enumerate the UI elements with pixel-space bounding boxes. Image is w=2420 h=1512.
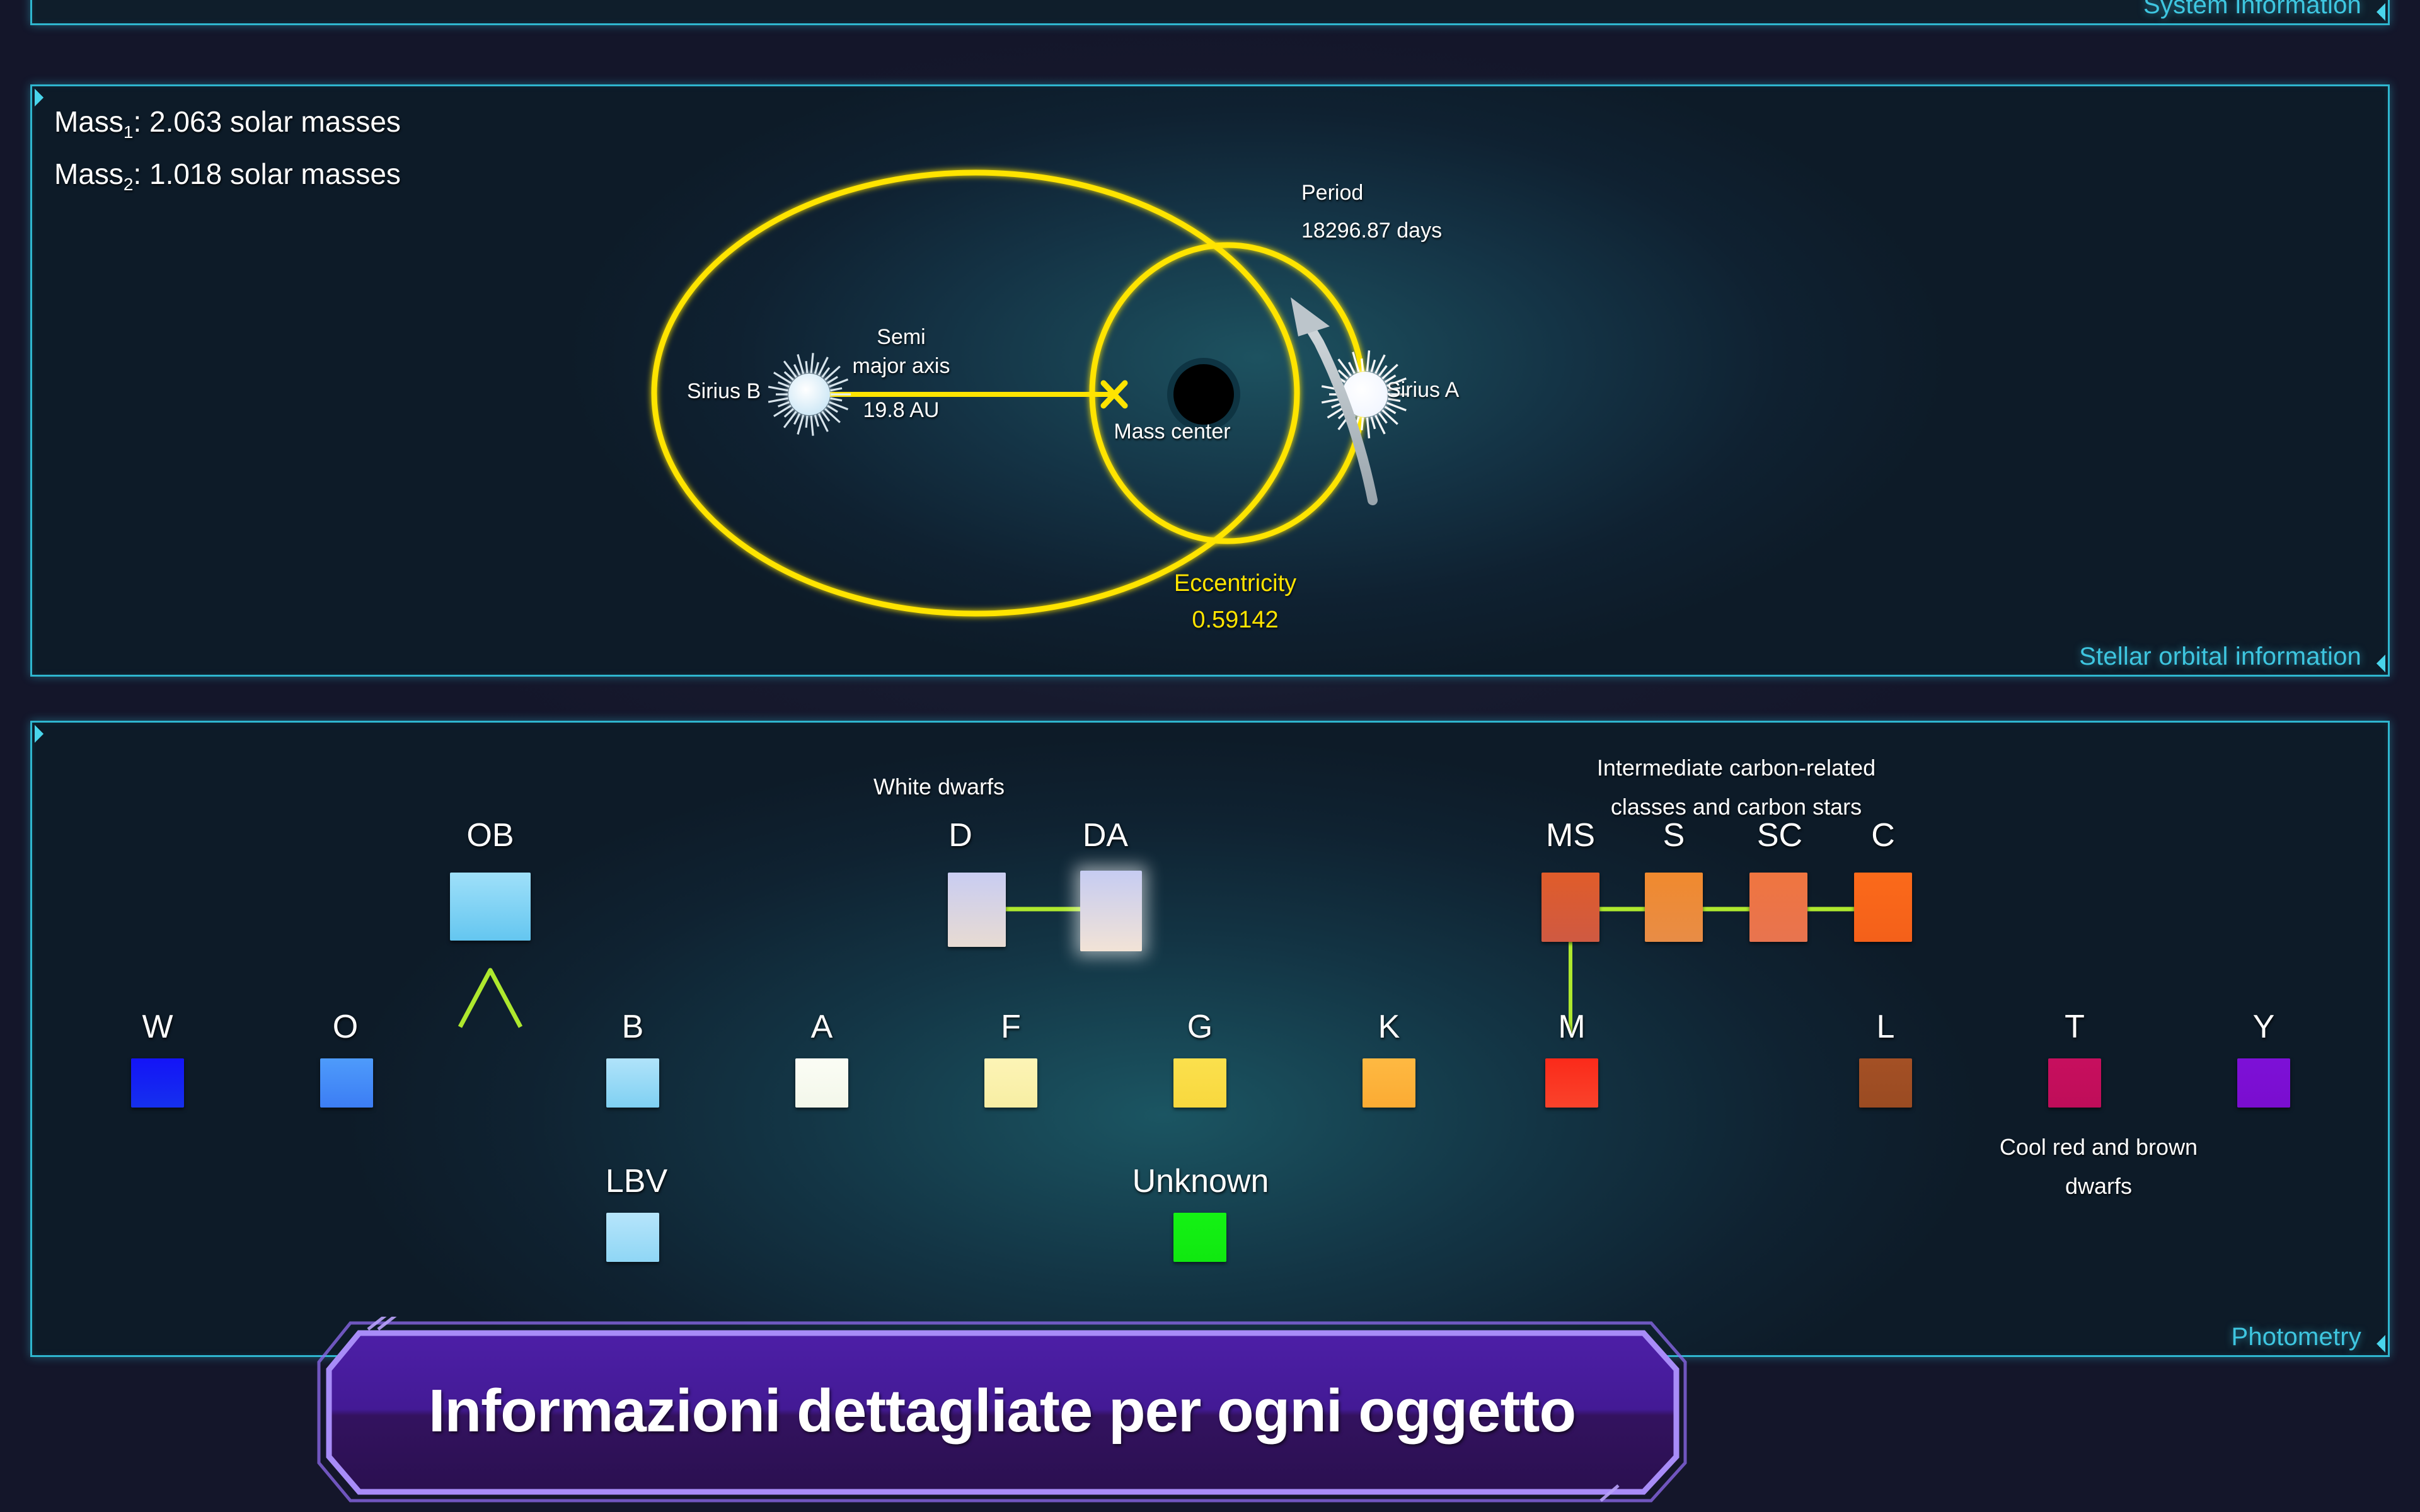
label-period: Period — [1301, 181, 1363, 205]
spectral-label-c: C — [1854, 816, 1912, 854]
spectral-box-w[interactable] — [131, 1058, 184, 1108]
spectral-label-lbv: LBV — [586, 1162, 687, 1200]
spectral-box-k[interactable] — [1363, 1058, 1415, 1108]
spectral-label-k: K — [1351, 1008, 1427, 1046]
spectral-box-y[interactable] — [2237, 1058, 2290, 1108]
label-period-value: 18296.87 days — [1301, 219, 1442, 243]
banner-title: Informazioni dettagliate per ogni oggett… — [315, 1317, 1689, 1506]
spectral-label-da: DA — [1061, 816, 1149, 854]
spectral-box-s[interactable] — [1645, 873, 1703, 942]
spectral-label-sc: SC — [1739, 816, 1820, 854]
label-mass-center: Mass center — [1046, 420, 1298, 444]
spectral-label-b: B — [595, 1008, 671, 1046]
spectral-box-sc[interactable] — [1749, 873, 1807, 942]
heading-cool-dwarfs-line1: Cool red and brown — [1903, 1134, 2294, 1160]
label-sirius-b: Sirius B — [687, 379, 761, 404]
spectral-box-b[interactable] — [606, 1058, 659, 1108]
spectral-box-unknown[interactable] — [1173, 1213, 1226, 1262]
label-semi-major-line1: Semi — [819, 325, 983, 350]
screen-root: System information Stellar orbital infor… — [0, 0, 2420, 1512]
spectral-box-l[interactable] — [1859, 1058, 1912, 1108]
spectral-box-t[interactable] — [2048, 1058, 2101, 1108]
spectral-box-d[interactable] — [948, 873, 1006, 947]
bottom-banner: Informazioni dettagliate per ogni oggett… — [315, 1317, 1689, 1506]
label-eccentricity-value: 0.59142 — [1109, 607, 1361, 634]
spectral-label-unknown: Unknown — [1097, 1162, 1305, 1200]
heading-cool-dwarfs-line2: dwarfs — [1903, 1173, 2294, 1200]
spectral-label-t: T — [2037, 1008, 2112, 1046]
panel-system-information: System information — [30, 0, 2390, 25]
spectral-label-w: W — [120, 1008, 195, 1046]
spectral-label-a: A — [784, 1008, 860, 1046]
heading-white-dwarfs: White dwarfs — [807, 774, 1071, 800]
spectral-box-g[interactable] — [1173, 1058, 1226, 1108]
panel-caption-photometry: Photometry — [2231, 1323, 2361, 1351]
spectral-box-lbv[interactable] — [606, 1213, 659, 1262]
spectral-label-m: M — [1534, 1008, 1610, 1046]
spectral-label-l: L — [1848, 1008, 1923, 1046]
spectral-box-a[interactable] — [795, 1058, 848, 1108]
spectral-label-g: G — [1162, 1008, 1238, 1046]
period-arrow-head-icon — [1291, 297, 1330, 336]
spectral-label-d: D — [923, 816, 998, 854]
spectral-label-o: O — [308, 1008, 383, 1046]
label-semi-major-line2: major axis — [819, 354, 983, 379]
label-eccentricity: Eccentricity — [1109, 570, 1361, 597]
spectral-box-f[interactable] — [984, 1058, 1037, 1108]
spectral-label-ms: MS — [1526, 816, 1615, 854]
label-sirius-a: Sirius A — [1386, 378, 1459, 403]
spectral-box-m[interactable] — [1545, 1058, 1598, 1108]
spectral-box-ms[interactable] — [1541, 873, 1599, 942]
panel-corner-bottom-right-icon — [2368, 3, 2385, 21]
panel-corner-top-left-icon — [35, 725, 52, 743]
label-semi-major-value: 19.8 AU — [838, 398, 964, 423]
spectral-box-ob[interactable] — [450, 873, 531, 941]
spectral-box-da[interactable] — [1080, 871, 1142, 951]
spectral-label-ob: OB — [434, 816, 547, 854]
mass-center-dot — [1173, 364, 1234, 425]
panel-caption-system: System information — [2143, 0, 2361, 20]
spectral-label-y: Y — [2226, 1008, 2302, 1046]
panel-corner-bottom-right-icon — [2368, 1335, 2385, 1353]
spectral-box-o[interactable] — [320, 1058, 373, 1108]
spectral-label-s: S — [1644, 816, 1704, 854]
heading-carbon-line1: Intermediate carbon-related — [1494, 755, 1979, 781]
spectral-label-f: F — [973, 1008, 1049, 1046]
spectral-box-c[interactable] — [1854, 873, 1912, 942]
